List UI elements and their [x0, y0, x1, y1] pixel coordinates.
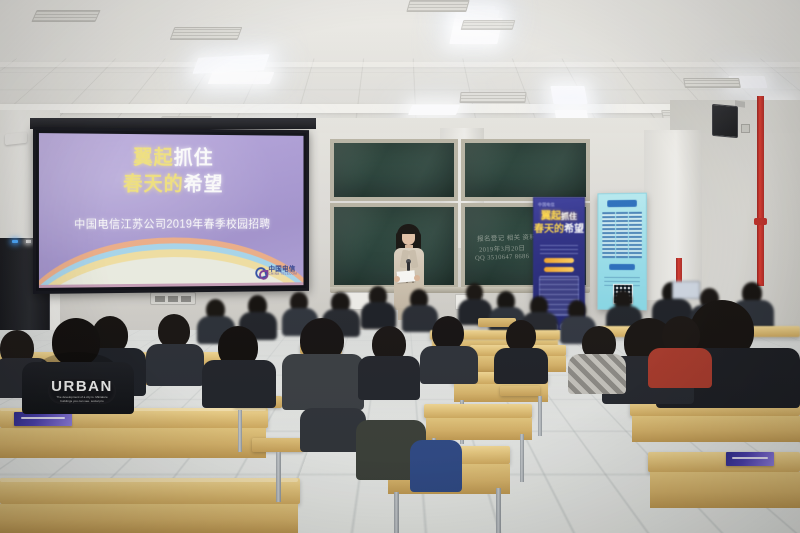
- ceiling-vent-3: [461, 20, 516, 30]
- banner-blue-t2w: 希望: [564, 224, 584, 235]
- chalk-note-1: 报名登记 相关 资料: [477, 231, 537, 243]
- desk-right-3-front: [650, 472, 800, 508]
- banner-cyan-position-table: [602, 212, 642, 258]
- desk-mid-3: [424, 404, 532, 418]
- fire-sprinkler-pipe: [757, 96, 764, 286]
- banner-blue-logo: 中国电信: [538, 202, 555, 208]
- slide-subtitle: 中国电信江苏公司2019年春季校园招聘: [39, 216, 304, 232]
- power-led-icon: [12, 240, 18, 243]
- fire-pipe-joint: [754, 218, 767, 225]
- ceiling-vent-7: [459, 92, 526, 103]
- banner-blue-t1w: 抓住: [561, 212, 577, 221]
- audience-body: [358, 356, 420, 400]
- telecom-logo-en: CHINA TELECOM: [268, 273, 297, 277]
- wall-socket-plate: [150, 292, 196, 305]
- flip-seat: [500, 386, 540, 396]
- desk-leg: [394, 492, 399, 533]
- slide-headline-white-2: 希望: [184, 174, 224, 196]
- desk-mid-3-front: [426, 418, 532, 440]
- china-telecom-logo: 中国电信 CHINA TELECOM: [255, 266, 297, 277]
- audience-head: [432, 316, 464, 350]
- wall-pillar-right: [644, 130, 702, 300]
- audience-body-blue-jeans: [410, 440, 462, 492]
- slide-headline: 翼起抓住 春天的希望: [39, 147, 304, 195]
- desk-right-2-front: [632, 416, 800, 442]
- banner-blue-pill-2: [544, 267, 574, 272]
- slide-headline-yellow-1: 翼起: [133, 147, 173, 169]
- ceiling-light-6: [550, 86, 587, 104]
- desk-flyer: [726, 452, 774, 466]
- slide-headline-yellow-2: 春天的: [123, 173, 183, 195]
- urban-brand-print: URBAN The development of a city is. Mini…: [48, 378, 116, 404]
- chalkboard-upper-right: [461, 139, 590, 201]
- banner-cyan-section2-header: [609, 264, 635, 270]
- ceiling-light-3: [208, 72, 275, 84]
- audience-body: [282, 354, 364, 410]
- banner-blue-t1y: 翼起: [541, 211, 561, 222]
- ceiling-vent-1: [170, 27, 243, 40]
- desk-left-3-edge: [0, 478, 298, 482]
- lecture-hall-photo: 报名登记 相关 资料 2019年3月20日 QQ 3510647 8686 翼起…: [0, 0, 800, 533]
- presenter-hand-left: [394, 276, 400, 282]
- audience-body: [361, 302, 396, 329]
- urban-brand-word: URBAN: [51, 379, 113, 394]
- telecom-mark-icon: [255, 266, 265, 277]
- banner-blue-t2y: 春天的: [534, 224, 564, 235]
- banner-blue-title: 翼起抓住 春天的希望: [534, 212, 584, 235]
- desk-leg: [238, 410, 242, 452]
- urban-brand-tagline: The development of a city is. Miniature …: [51, 396, 113, 404]
- ceiling-light-4: [408, 105, 460, 115]
- desk-leg: [496, 488, 501, 533]
- ceiling-vent-2: [406, 0, 469, 12]
- audience-body: [146, 344, 204, 386]
- desk-left-2-front: [0, 428, 266, 458]
- audience-body-plaid: [568, 354, 626, 394]
- wall-speaker-icon: [712, 104, 738, 138]
- banner-blue-text-block: [540, 242, 578, 254]
- projector-bracket: [5, 132, 27, 145]
- banner-blue-pill-1: [544, 258, 574, 263]
- presentation-slide: 翼起抓住 春天的希望 中国电信江苏公司2019年春季校园招聘 中国电信 CHIN…: [39, 133, 304, 288]
- laptop-icon: [672, 281, 700, 299]
- presenter-hand-right: [414, 275, 420, 281]
- ceiling-beam-mid: [0, 62, 800, 67]
- ceiling-vent-9: [683, 78, 741, 88]
- desk-leg: [520, 434, 524, 482]
- desk-right-3: [648, 452, 800, 472]
- projection-screen: 翼起抓住 春天的希望 中国电信江苏公司2019年春季校园招聘 中国电信 CHIN…: [33, 127, 309, 294]
- flip-seat: [252, 438, 304, 452]
- audience-head: [158, 314, 190, 348]
- wall-junction-box: [741, 124, 750, 133]
- chalkboard-upper-left: [330, 139, 458, 201]
- desk-leg: [538, 396, 542, 436]
- presenter-fringe: [401, 227, 416, 234]
- audience-body: [202, 360, 276, 408]
- slide-headline-white-1: 抓住: [174, 147, 214, 169]
- status-led-icon: [26, 240, 31, 243]
- banner-cyan-section1-header: [607, 200, 637, 207]
- desk-left-3-front: [0, 504, 298, 533]
- chalk-note-2: 2019年3月20日: [479, 242, 526, 254]
- desk-flyer: [14, 412, 72, 426]
- audience-body: [494, 348, 548, 384]
- audience-body-red-jacket: [648, 348, 712, 388]
- desk-leg: [276, 452, 281, 502]
- chalk-note-3: QQ 3510647 8686: [475, 253, 530, 262]
- audience-body: [420, 346, 478, 384]
- ceiling-vent-4: [31, 10, 100, 22]
